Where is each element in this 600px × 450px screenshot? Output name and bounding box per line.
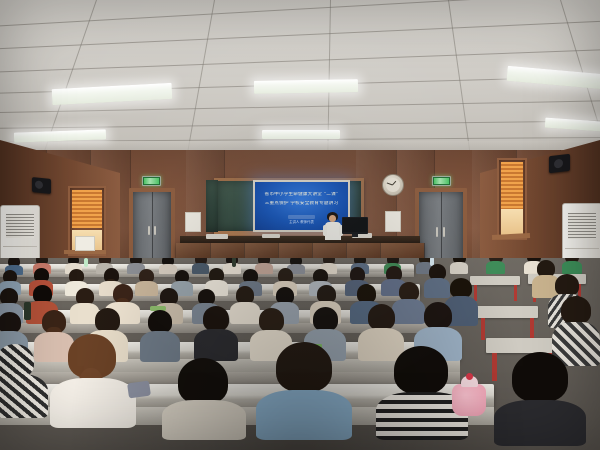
ceiling-light-1 — [52, 83, 173, 105]
ceiling — [0, 0, 600, 172]
door-left[interactable] — [133, 192, 171, 266]
thermos — [232, 258, 236, 267]
water-bottle — [84, 258, 88, 267]
slide-title-line-1: 省市中小学生命健康大讲堂 “二课” — [255, 192, 348, 198]
chair[interactable] — [476, 306, 538, 318]
list-item — [56, 334, 130, 426]
window-notice-left — [75, 236, 95, 251]
slide-badge — [288, 215, 315, 219]
wall-notice-left — [185, 212, 201, 232]
chair[interactable] — [486, 338, 558, 353]
pink-bag — [452, 384, 486, 416]
list-item — [168, 358, 240, 434]
lecture-hall-photo: 省市中小学生命健康大讲堂 “二课” 三重点保护 学校安全教育专题讲习 主讲人 教… — [0, 0, 600, 450]
stage-papers-left — [206, 234, 228, 239]
list-item — [196, 306, 236, 360]
exit-sign-left — [142, 176, 161, 186]
ceiling-light-3 — [507, 66, 600, 89]
exit-sign-right — [432, 176, 451, 186]
list-item — [0, 344, 44, 414]
presenter-monitor — [342, 217, 368, 234]
speaker-left — [32, 177, 51, 194]
ceiling-light-5 — [262, 130, 340, 139]
stage-papers-center — [262, 234, 280, 238]
speaker-right — [549, 154, 570, 174]
list-item — [262, 342, 346, 438]
list-item — [562, 258, 582, 272]
list-item — [142, 310, 178, 360]
phone — [127, 381, 151, 399]
window-right — [497, 158, 527, 240]
wall-notice-right — [385, 211, 401, 232]
presenter — [322, 212, 344, 242]
list-item — [486, 258, 505, 272]
list-item — [382, 346, 462, 438]
audience-seating-area — [0, 258, 600, 450]
list-item — [500, 352, 580, 444]
monitor-stand — [352, 234, 358, 237]
wall-clock — [382, 174, 404, 196]
ceiling-light-2 — [254, 79, 358, 94]
list-item — [136, 269, 157, 295]
door-right[interactable] — [419, 192, 463, 268]
slide-title-line-2: 三重点保护 学校安全教育专题讲习 — [255, 201, 348, 207]
list-item — [450, 258, 468, 272]
pink-bag-cherry — [466, 373, 473, 380]
blackboard-left-wing — [206, 180, 218, 232]
